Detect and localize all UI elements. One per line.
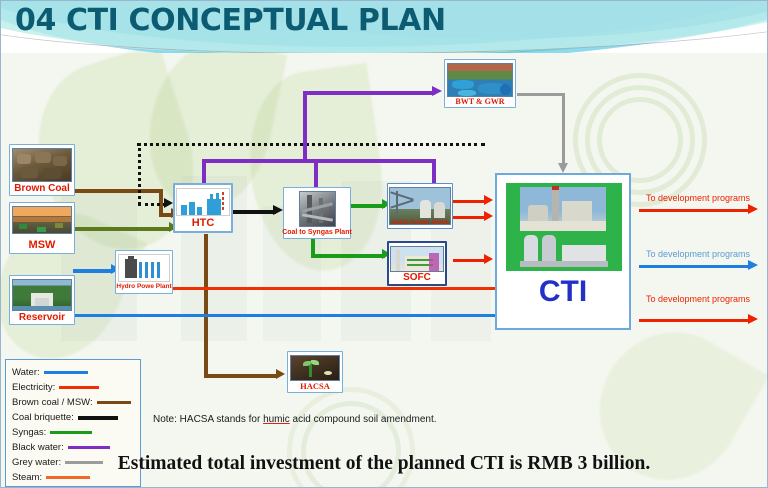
arrow-sofc-cti xyxy=(484,254,493,264)
edge-htc-to-hacsa-v xyxy=(204,234,208,376)
sofc-plant-photo xyxy=(390,246,444,272)
legend-swatch-briquette xyxy=(78,416,118,420)
edge-browncoal-to-htc-v xyxy=(159,189,163,215)
node-igcc-power-plant[interactable]: IGCC Power Plant xyxy=(387,183,453,229)
node-sofc[interactable]: SOFC xyxy=(387,241,447,286)
edge-blackwater-riser-igcc xyxy=(432,159,436,185)
node-label: Brown Coal xyxy=(14,184,70,195)
legend-label: Black water: xyxy=(12,442,64,453)
arrow-igcc-cti-2 xyxy=(484,211,493,221)
edge-briquette-down xyxy=(138,143,141,205)
legend-item: Water: xyxy=(12,365,136,380)
legend-swatch-syngas xyxy=(50,431,92,434)
edge-syngas-to-igcc xyxy=(349,204,385,208)
note-text: Note: HACSA stands for humic acid compou… xyxy=(153,414,437,425)
arrow-htc-syngas xyxy=(273,205,283,215)
arrow-cti-out-3 xyxy=(748,314,758,324)
node-bwt-gwr[interactable]: BWT & GWR xyxy=(444,59,516,108)
output-label-3: To development programs xyxy=(646,294,750,304)
node-hydro-power-plant[interactable]: Hydro Powe Plant xyxy=(115,250,173,294)
legend-label: Water: xyxy=(12,367,40,378)
arrow-blackwater-bwt xyxy=(432,86,442,96)
arrow-greywater-cti xyxy=(558,163,568,173)
cti-industrial-photo xyxy=(506,183,622,271)
legend-item: Brown coal / MSW: xyxy=(12,395,136,410)
note-suffix: acid compound soil amendment. xyxy=(290,414,437,425)
legend-item: Electricity: xyxy=(12,380,136,395)
edge-igcc-to-cti-2 xyxy=(453,216,487,219)
bottom-statement: Estimated total investment of the planne… xyxy=(1,453,767,475)
node-label: HACSA xyxy=(300,382,330,391)
edge-reservoir-to-hydro xyxy=(73,269,113,273)
legend-swatch-water xyxy=(44,371,88,374)
slide-canvas: 04 CTI CONCEPTUAL PLAN xyxy=(0,0,768,488)
node-label: BWT & GWR xyxy=(455,98,504,106)
legend-label: Coal briquette: xyxy=(12,412,74,423)
edge-browncoal-to-htc-h1 xyxy=(73,189,161,193)
edge-cti-out-1 xyxy=(639,209,751,212)
legend-item: Coal briquette: xyxy=(12,410,136,425)
legend-label: Electricity: xyxy=(12,382,55,393)
node-label: Coal to Syngas Plant xyxy=(282,229,352,236)
reservoir-dam-photo xyxy=(12,279,72,311)
edge-blackwater-to-bwt xyxy=(303,91,435,95)
cti-label: CTI xyxy=(497,275,629,309)
msw-landfill-photo xyxy=(12,206,72,234)
legend-item: Syngas: xyxy=(12,425,136,440)
legend-label: Brown coal / MSW: xyxy=(12,397,93,408)
output-label-1: To development programs xyxy=(646,193,750,203)
node-brown-coal[interactable]: Brown Coal xyxy=(9,144,75,196)
arrow-igcc-cti-1 xyxy=(484,195,493,205)
edge-sofc-to-cti xyxy=(453,259,487,262)
syngas-plant-photo xyxy=(299,191,336,227)
note-prefix: Note: HACSA stands for xyxy=(153,414,263,425)
hydro-plant-icon xyxy=(118,254,170,282)
arrow-cti-out-1 xyxy=(748,204,758,214)
arrow-htc-hacsa xyxy=(276,369,285,379)
node-label: Hydro Powe Plant xyxy=(116,284,171,291)
edge-igcc-to-cti-1 xyxy=(453,200,487,203)
htc-plant-icon xyxy=(176,188,230,216)
node-label: HTC xyxy=(192,218,215,230)
brown-coal-photo xyxy=(12,148,72,182)
node-label: IGCC Power Plant xyxy=(388,220,452,227)
legend-label: Syngas: xyxy=(12,427,46,438)
header-banner: 04 CTI CONCEPTUAL PLAN xyxy=(1,1,768,53)
node-label: Reservoir xyxy=(19,313,65,324)
edge-htc-to-syngas xyxy=(232,210,276,214)
legend-swatch-blackwater xyxy=(68,446,110,449)
edge-blackwater-bus xyxy=(202,159,436,163)
edge-blackwater-up-to-bwt xyxy=(303,91,307,161)
edge-briquette-top xyxy=(137,143,485,146)
node-htc[interactable]: HTC xyxy=(173,183,233,233)
edge-syngas-to-sofc-h xyxy=(311,254,385,258)
edge-msw-to-htc xyxy=(73,227,171,231)
output-label-2: To development programs xyxy=(646,249,750,259)
water-treatment-photo xyxy=(447,63,513,97)
node-reservoir[interactable]: Reservoir xyxy=(9,275,75,325)
arrow-cti-out-2 xyxy=(748,260,758,270)
node-msw[interactable]: MSW xyxy=(9,202,75,254)
node-cti[interactable]: CTI xyxy=(495,173,631,330)
legend-swatch-browncoal xyxy=(97,401,131,404)
edge-blackwater-riser-htc xyxy=(202,159,206,183)
edge-greywater-h xyxy=(517,93,565,96)
node-coal-to-syngas-plant[interactable]: Coal to Syngas Plant xyxy=(283,187,351,239)
edge-electricity-main xyxy=(164,287,495,290)
edge-water-main xyxy=(73,314,495,317)
seedling-soil-photo xyxy=(290,355,340,381)
note-underlined: humic xyxy=(263,414,290,425)
legend-swatch-steam xyxy=(46,476,90,479)
node-label: SOFC xyxy=(403,273,431,284)
edge-cti-out-2 xyxy=(639,265,751,268)
node-hacsa[interactable]: HACSA xyxy=(287,351,343,393)
node-label: MSW xyxy=(29,240,56,252)
edge-htc-to-hacsa-h xyxy=(204,374,278,378)
edge-briquette-into-htc xyxy=(138,203,166,206)
arrow-briquette-htc xyxy=(164,198,173,208)
edge-greywater-v xyxy=(562,93,565,165)
edge-cti-out-3 xyxy=(639,319,751,322)
edge-blackwater-riser-syngas xyxy=(314,159,318,187)
legend-swatch-electricity xyxy=(59,386,99,389)
page-title: 04 CTI CONCEPTUAL PLAN xyxy=(15,3,446,38)
